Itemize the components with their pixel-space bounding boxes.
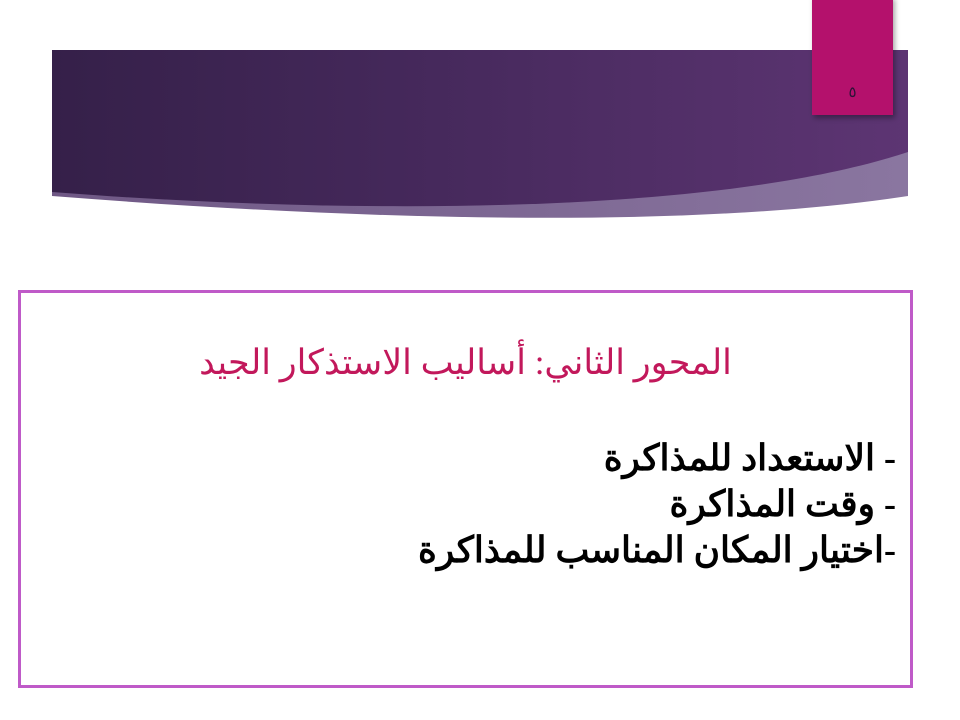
list-item: -اختيار المكان المناسب للمذاكرة <box>35 527 896 573</box>
banner-accent-swoosh <box>52 50 908 218</box>
page-title: المحور الثاني: أساليب الاستذكار الجيد <box>21 343 910 383</box>
presentation-slide: ٥ المحور الثاني: أساليب الاستذكار الجيد … <box>0 0 960 720</box>
slide-number-badge: ٥ <box>812 0 893 115</box>
banner-main-shape <box>52 50 908 206</box>
slide-number-label: ٥ <box>812 86 893 101</box>
list-item: - وقت المذاكرة <box>35 481 896 527</box>
bullet-list: - الاستعداد للمذاكرة - وقت المذاكرة -اخت… <box>35 435 896 573</box>
content-box: المحور الثاني: أساليب الاستذكار الجيد - … <box>18 290 913 688</box>
list-item: - الاستعداد للمذاكرة <box>35 435 896 481</box>
